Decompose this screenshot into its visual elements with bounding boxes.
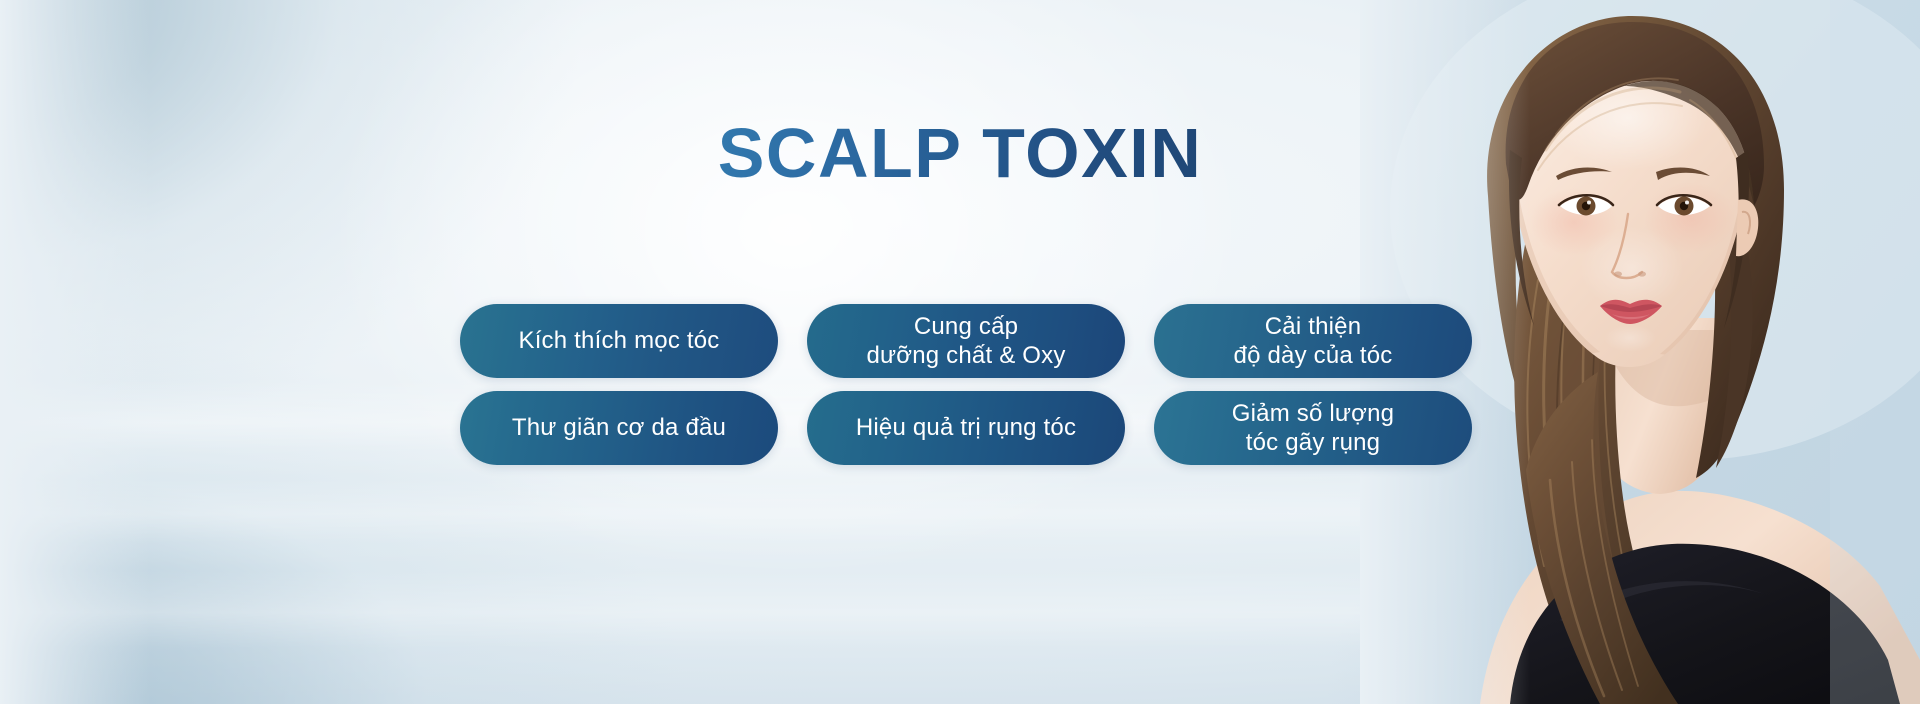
- benefit-pill-line-2: tóc gãy rụng: [1232, 428, 1394, 457]
- benefit-pill-thu-gian-co-da-dau[interactable]: Thư giãn cơ da đầu: [460, 391, 778, 465]
- benefit-pill-label: Cung cấp dưỡng chất & Oxy: [866, 312, 1065, 371]
- benefit-pill-giam-so-luong-toc-gay[interactable]: Giảm số lượng tóc gãy rụng: [1154, 391, 1472, 465]
- benefit-pill-label: Giảm số lượng tóc gãy rụng: [1232, 399, 1394, 458]
- benefit-pill-label: Cải thiện độ dày của tóc: [1234, 312, 1393, 371]
- benefit-pill-label: Thư giãn cơ da đầu: [512, 413, 726, 442]
- benefit-pill-cung-cap-duong-chat[interactable]: Cung cấp dưỡng chất & Oxy: [807, 304, 1125, 378]
- page-title: SCALP TOXIN: [0, 118, 1920, 188]
- benefit-pill-label: Hiệu quả trị rụng tóc: [856, 413, 1076, 442]
- benefit-pill-line-1: Thư giãn cơ da đầu: [512, 413, 726, 442]
- benefit-pill-label: Kích thích mọc tóc: [518, 326, 719, 355]
- page-title-text: SCALP TOXIN: [718, 118, 1203, 188]
- benefit-pill-line-1: Cải thiện: [1234, 312, 1393, 341]
- scalp-toxin-banner: SCALP TOXIN Kích thích mọc tóc Cung cấp …: [0, 0, 1920, 704]
- benefit-pill-line-2: độ dày của tóc: [1234, 341, 1393, 370]
- benefit-pill-line-1: Kích thích mọc tóc: [518, 326, 719, 355]
- benefit-pill-cai-thien-do-day[interactable]: Cải thiện độ dày của tóc: [1154, 304, 1472, 378]
- benefit-pill-line-1: Giảm số lượng: [1232, 399, 1394, 428]
- benefit-pill-hieu-qua-tri-rung-toc[interactable]: Hiệu quả trị rụng tóc: [807, 391, 1125, 465]
- benefit-pill-line-1: Cung cấp: [866, 312, 1065, 341]
- benefit-pill-grid: Kích thích mọc tóc Cung cấp dưỡng chất &…: [460, 304, 1490, 465]
- benefit-pill-kich-thich-moc-toc[interactable]: Kích thích mọc tóc: [460, 304, 778, 378]
- benefit-pill-line-2: dưỡng chất & Oxy: [866, 341, 1065, 370]
- benefit-pill-line-1: Hiệu quả trị rụng tóc: [856, 413, 1076, 442]
- background-center-glow: [330, 0, 1250, 580]
